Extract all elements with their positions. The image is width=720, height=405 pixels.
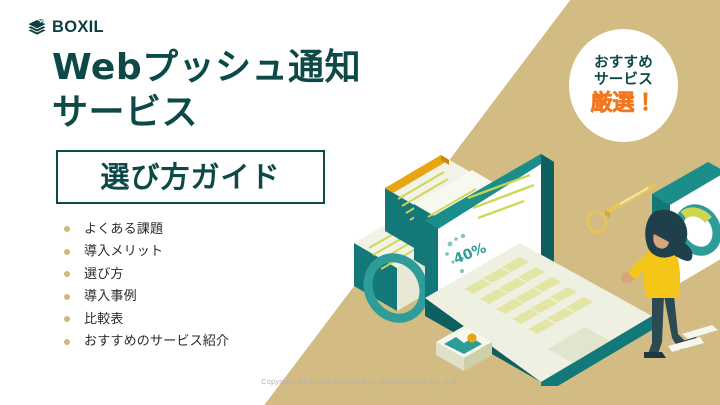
- badge-line2: サービス: [594, 72, 653, 90]
- list-item-label: 比較表: [84, 313, 124, 326]
- boxil-logo[interactable]: BOXIL: [27, 17, 104, 37]
- slide-canvas: BOXIL Webプッシュ通知 サービス 選び方ガイド よくある課題 導入メリッ…: [0, 0, 720, 405]
- isometric-laptop-analytics-illustration: 40%: [352, 138, 720, 386]
- list-item: おすすめのサービス紹介: [64, 331, 229, 354]
- list-item: 選び方: [64, 263, 229, 286]
- bullet-dot-icon: [64, 294, 70, 300]
- list-item-label: 導入事例: [84, 290, 137, 303]
- stacked-layers-icon: [27, 17, 47, 37]
- list-item-label: 選び方: [84, 268, 124, 281]
- list-item-label: よくある課題: [84, 223, 163, 236]
- boxil-logo-text: BOXIL: [52, 19, 104, 36]
- footer-copyright: Copyright, All Rights Reserved by SMARTC…: [0, 377, 720, 386]
- badge-line3: 厳選！: [590, 91, 656, 116]
- list-item: よくある課題: [64, 218, 229, 241]
- list-item: 導入事例: [64, 286, 229, 309]
- list-item-label: 導入メリット: [84, 245, 163, 258]
- bullet-dot-icon: [64, 226, 70, 232]
- agenda-list: よくある課題 導入メリット 選び方 導入事例 比較表 おすすめのサービス紹介: [64, 218, 229, 353]
- bullet-dot-icon: [64, 339, 70, 345]
- bullet-dot-icon: [64, 271, 70, 277]
- recommended-badge: おすすめ サービス 厳選！: [569, 29, 678, 142]
- list-item-label: おすすめのサービス紹介: [84, 335, 229, 348]
- bullet-dot-icon: [64, 249, 70, 255]
- page-title-line2: サービス: [52, 90, 361, 135]
- guide-label-box: 選び方ガイド: [56, 150, 325, 204]
- guide-label-text: 選び方ガイド: [100, 163, 280, 192]
- list-item: 比較表: [64, 308, 229, 331]
- page-title-line1: Webプッシュ通知: [52, 47, 361, 88]
- bullet-dot-icon: [64, 316, 70, 322]
- page-title: Webプッシュ通知 サービス: [52, 45, 361, 136]
- badge-line1: おすすめ: [594, 55, 653, 73]
- list-item: 導入メリット: [64, 241, 229, 264]
